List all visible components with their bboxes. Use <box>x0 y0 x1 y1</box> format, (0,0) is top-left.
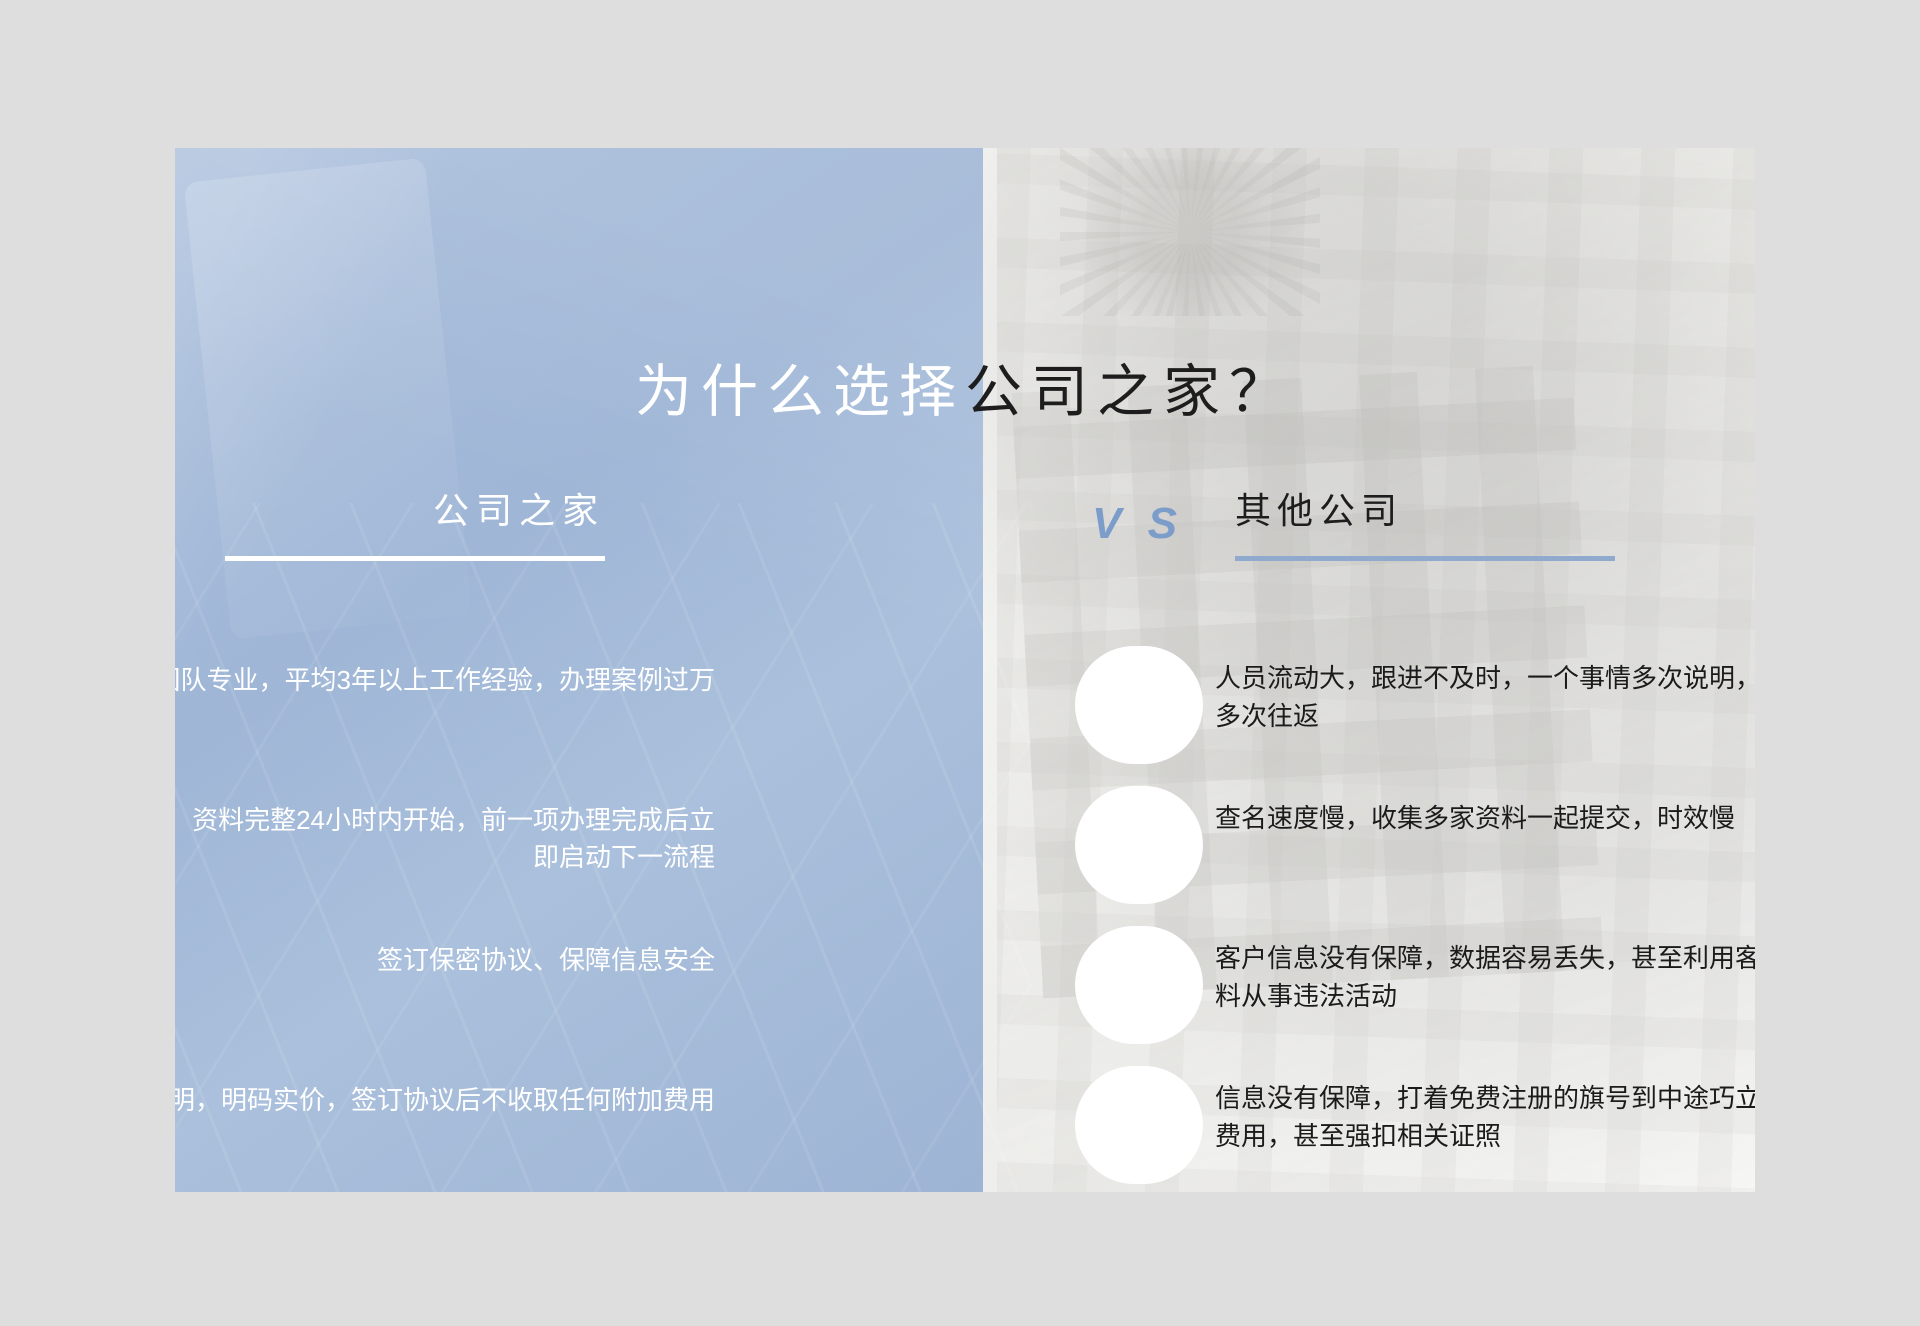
header-right-underline <box>1235 556 1615 561</box>
comparison-rows: 团队专业，平均3年以上工作经验，办理案例过万 专 业 顾 问 人员流动大，跟进不… <box>175 638 1755 1192</box>
title-light-part: 为什么选择 <box>635 360 965 424</box>
table-row: 团队专业，平均3年以上工作经验，办理案例过万 专 业 顾 问 人员流动大，跟进不… <box>175 638 1755 778</box>
row-others-text: 客户信息没有保障，数据容易丢失，甚至利用客户证照资料从事违法活动 <box>1215 940 1755 1015</box>
header-right-label: 其他公司 <box>1235 482 1655 534</box>
row-ours-text: 签订保密协议、保障信息安全 <box>175 942 715 979</box>
category-pill <box>1075 1066 1203 1184</box>
vs-badge: V S <box>1080 478 1196 570</box>
row-others-text: 人员流动大，跟进不及时，一个事情多次说明，一个文件多次往返 <box>1215 660 1755 735</box>
category-pill <box>1075 646 1203 764</box>
infographic-canvas: 为什么选择公司之家？ 公司之家 V S 其他公司 团队专业，平均3年以上工作经验… <box>0 0 1920 1326</box>
header-left-label: 公司之家 <box>225 482 605 534</box>
table-row: 简单快捷，资料完整24小时内开始，前一项办理完成后立即启动下一流程 快 速 高 … <box>175 778 1755 918</box>
row-others-text: 信息没有保障，打着免费注册的旗号到中途巧立名目收取费用，甚至强扣相关证照 <box>1215 1080 1755 1155</box>
title-dark-part: 公司之家？ <box>965 360 1295 424</box>
right-emblem-decoration <box>1060 148 1320 316</box>
table-row: 价格透明，明码实价，签订协议后不收取任何附加费用 明 码 标 价 信息没有保障，… <box>175 1058 1755 1192</box>
comparison-panel: 为什么选择公司之家？ 公司之家 V S 其他公司 团队专业，平均3年以上工作经验… <box>175 148 1755 1192</box>
table-row: 签订保密协议、保障信息安全 信 息 保 密 客户信息没有保障，数据容易丢失，甚至… <box>175 918 1755 1058</box>
row-others-text: 查名速度慢，收集多家资料一起提交，时效慢 <box>1215 800 1755 838</box>
category-pill <box>1075 786 1203 904</box>
header-left-underline <box>225 556 605 561</box>
category-pill <box>1075 926 1203 1044</box>
page-title: 为什么选择公司之家？ <box>175 346 1755 428</box>
versus-header: 公司之家 V S 其他公司 <box>175 478 1755 570</box>
row-ours-text: 团队专业，平均3年以上工作经验，办理案例过万 <box>175 662 715 699</box>
row-ours-text: 简单快捷，资料完整24小时内开始，前一项办理完成后立即启动下一流程 <box>175 802 715 876</box>
row-ours-text: 价格透明，明码实价，签订协议后不收取任何附加费用 <box>175 1082 715 1119</box>
